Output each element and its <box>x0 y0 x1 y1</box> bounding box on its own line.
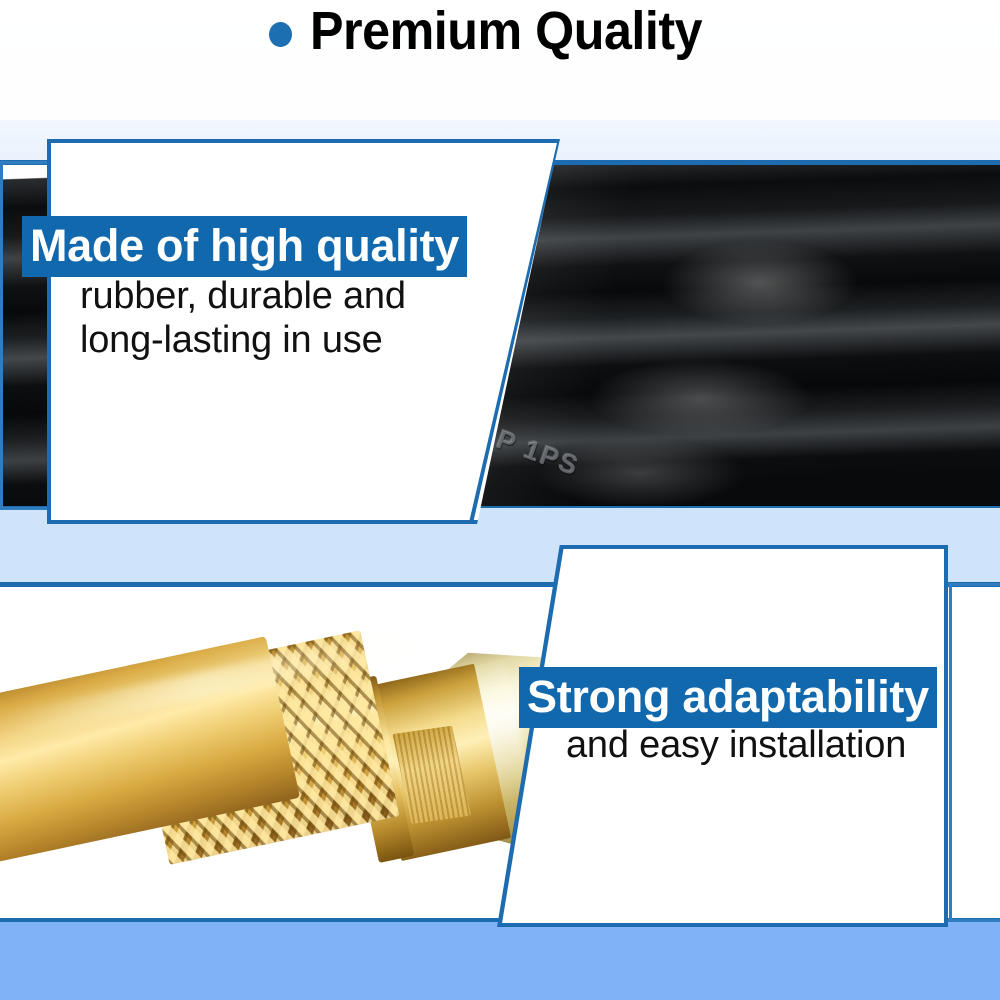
bullet-dot-icon <box>269 22 292 47</box>
page-title: Premium Quality <box>310 4 702 58</box>
header: Premium Quality <box>0 0 1000 120</box>
frame-line-right <box>949 583 952 922</box>
frame-line-top-right <box>948 583 1000 586</box>
frame-line-bot-left <box>0 507 52 510</box>
feature-quality-body: rubber, durable and long-lasting in use <box>80 274 406 362</box>
product-infographic: Premium Quality P 1PS Made <box>0 0 1000 1000</box>
feature-adaptability-heading: Strong adaptability <box>519 667 937 728</box>
frame-line-left <box>0 161 3 510</box>
frame-line-bot-right <box>948 919 1000 922</box>
feature-adaptability-body: and easy installation <box>566 723 906 767</box>
frame-line-top-left <box>0 161 52 164</box>
feature-quality-heading: Made of high quality <box>22 216 467 277</box>
bottom-band <box>0 922 1000 1000</box>
